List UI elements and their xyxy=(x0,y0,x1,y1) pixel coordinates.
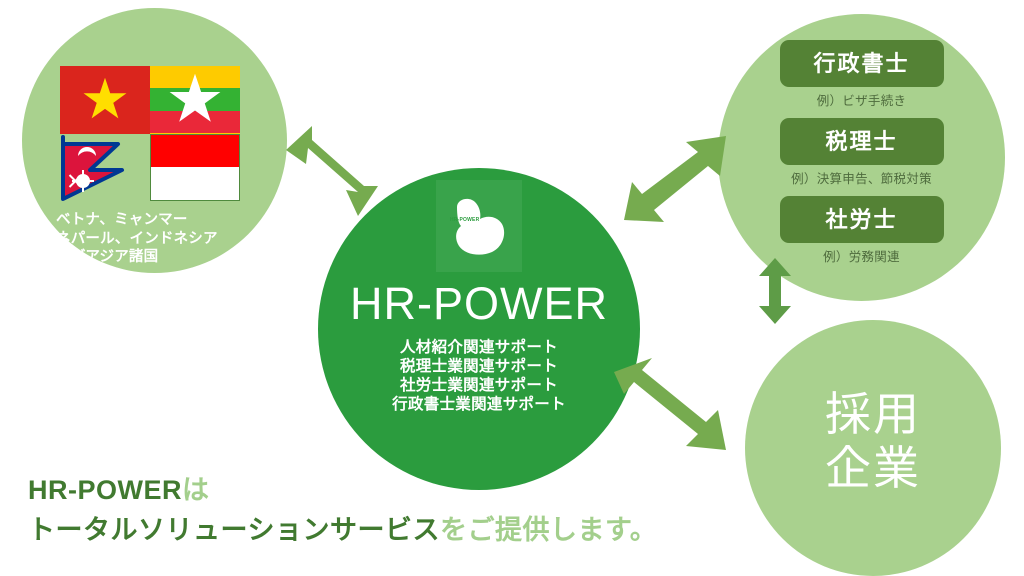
indonesia-red-band xyxy=(151,135,239,168)
myanmar-red-band xyxy=(150,111,240,133)
hrpower-title: HR-POWER xyxy=(350,278,608,330)
profession-group-sharoshi: 社労士 例）労務関連 xyxy=(718,196,1005,265)
countries-caption: ベトナ、ミャンマー ネパール、インドネシア などアジア諸国 xyxy=(56,211,286,267)
logo-wordmark: HR-POWER xyxy=(450,217,479,223)
tagline-line-2-soft: をご提供します。 xyxy=(440,515,657,545)
profession-example-zeirishi: 例）決算申告、節税対策 xyxy=(718,168,1005,187)
arrow-center-hiring-icon xyxy=(608,352,736,464)
tagline-line-1: HR-POWERは xyxy=(28,470,728,510)
nepal-flag xyxy=(60,134,150,202)
profession-box-zeirishi[interactable]: 税理士 xyxy=(780,118,944,165)
tagline-line-1-soft: は xyxy=(182,475,210,505)
tagline-line-2: トータルソリューションサービスをご提供します。 xyxy=(28,510,728,550)
vietnam-flag xyxy=(60,66,150,134)
arrow-center-professions-icon xyxy=(620,128,730,232)
tagline: HR-POWERは トータルソリューションサービスをご提供します。 xyxy=(28,470,728,550)
profession-example-gyoseishoshi: 例）ビザ手続き xyxy=(718,90,1005,109)
arrow-professions-hiring-icon xyxy=(757,258,793,324)
profession-group-zeirishi: 税理士 例）決算申告、節税対策 xyxy=(718,118,1005,187)
diagram-canvas: ベトナ、ミャンマー ネパール、インドネシア などアジア諸国 HR-POWER H… xyxy=(0,0,1024,576)
profession-box-gyoseishoshi[interactable]: 行政書士 xyxy=(780,40,944,87)
profession-box-sharoshi[interactable]: 社労士 xyxy=(780,196,944,243)
tagline-line-1-strong: HR-POWER xyxy=(28,475,182,505)
hrpower-services-list: 人材紹介関連サポート 税理士業関連サポート 社労士業関連サポート 行政書士業関連… xyxy=(392,338,566,414)
flags-grid xyxy=(60,66,240,201)
indonesia-flag xyxy=(150,134,240,202)
myanmar-flag xyxy=(150,66,240,134)
tagline-line-2-strong: トータルソリューションサービス xyxy=(28,515,440,545)
hiring-companies-label: 採用 企業 xyxy=(825,387,921,495)
countries-circle: ベトナ、ミャンマー ネパール、インドネシア などアジア諸国 xyxy=(22,8,287,273)
hiring-companies-circle: 採用 企業 xyxy=(745,320,1001,576)
vietnam-star-icon xyxy=(83,78,127,122)
flexed-bicep-icon: HR-POWER xyxy=(436,180,522,272)
arrow-countries-center-icon xyxy=(282,120,394,224)
profession-group-gyoseishoshi: 行政書士 例）ビザ手続き xyxy=(718,40,1005,109)
